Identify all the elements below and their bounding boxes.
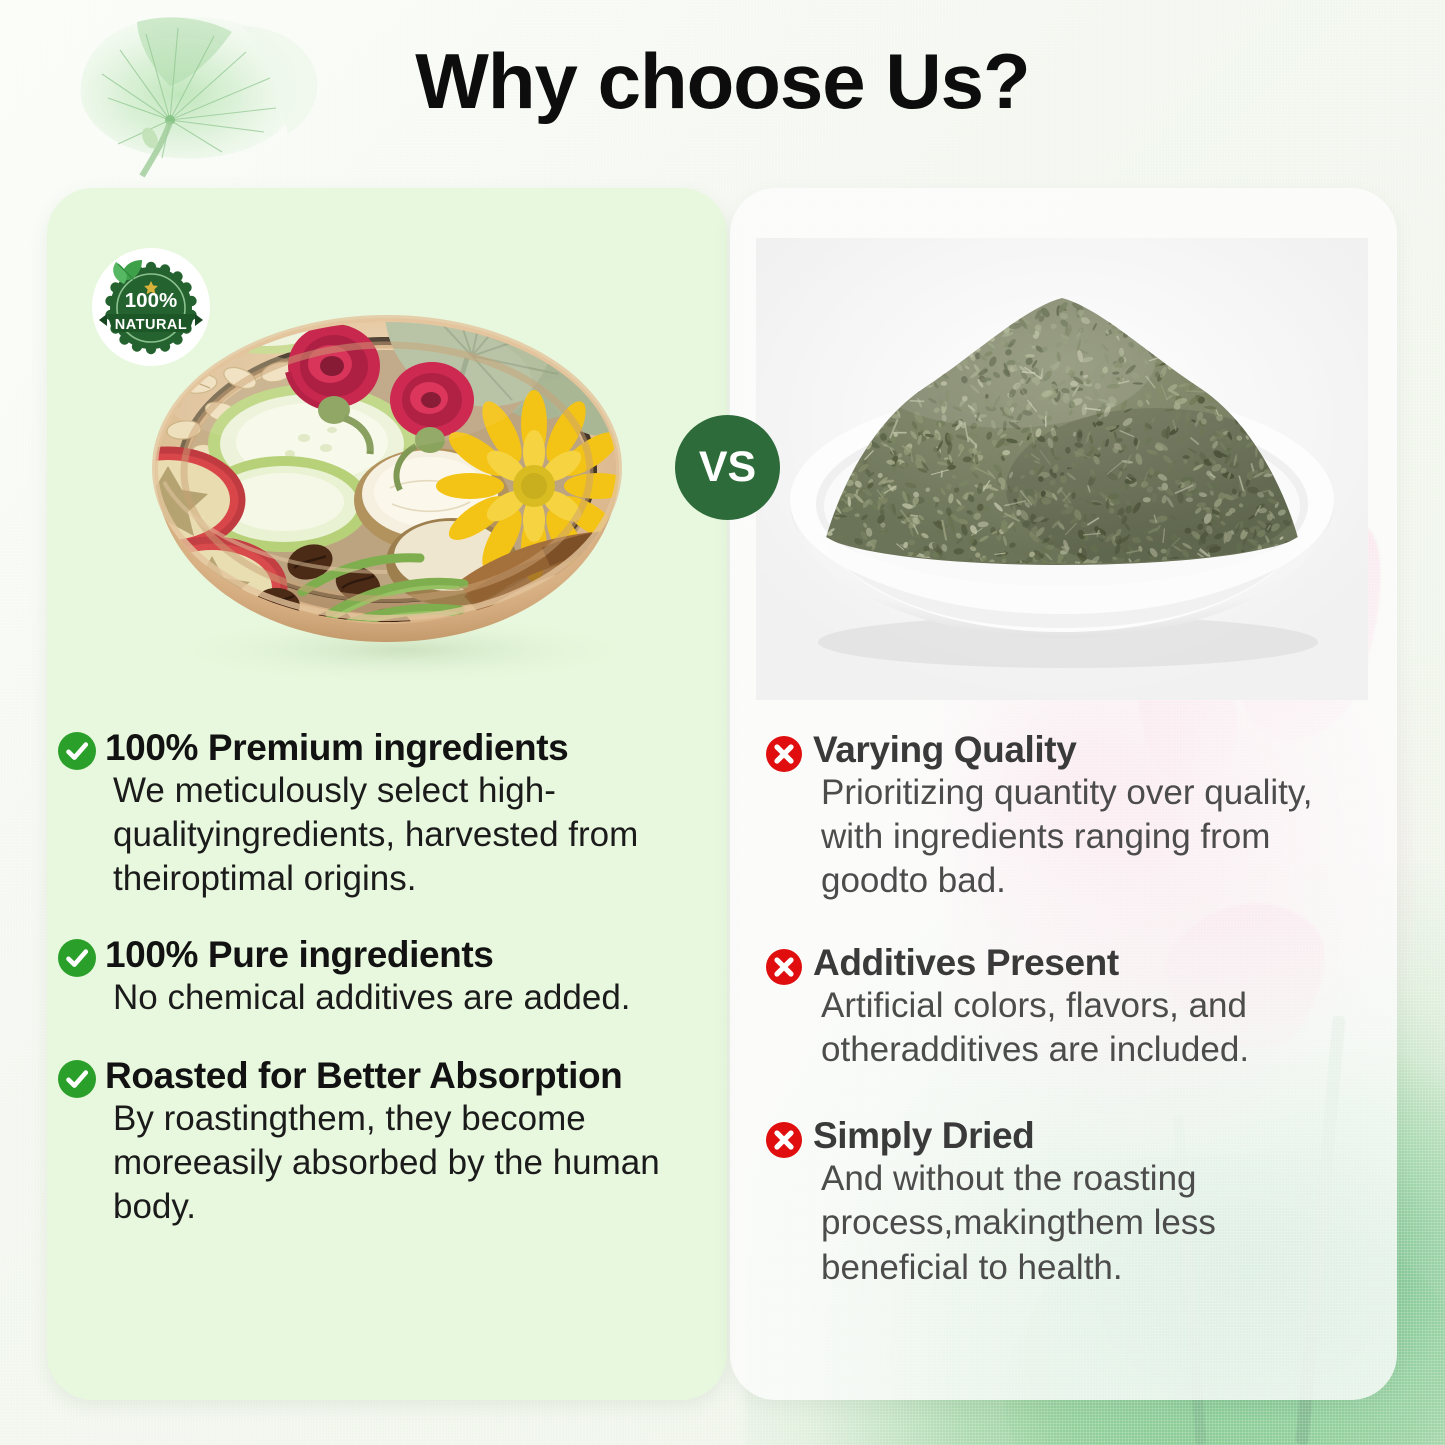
list-item-heading: 100% Premium ingredients (105, 728, 723, 768)
check-circle-icon (58, 1060, 96, 1098)
list-item: Simply Dried And without the roasting pr… (766, 1116, 1366, 1289)
page-title: Why choose Us? (0, 42, 1445, 120)
list-item: 100% Pure ingredients No chemical additi… (58, 935, 723, 1020)
natural-badge-icon: 100% NATURAL (92, 248, 210, 366)
seal-percent-label: 100% (125, 289, 177, 312)
bad-feature-list: Varying Quality Prioritizing quantity ov… (766, 730, 1366, 1320)
list-item: 100% Premium ingredients We meticulously… (58, 728, 723, 901)
seal-natural-label: NATURAL (115, 317, 188, 333)
list-item-heading: Roasted for Better Absorption (105, 1056, 723, 1096)
list-item-body: Prioritizing quantity over quality, with… (821, 771, 1366, 903)
list-item: Roasted for Better Absorption By roastin… (58, 1056, 723, 1229)
vs-badge: VS (675, 415, 780, 520)
list-item-body: By roastingthem, they become moreeasily … (113, 1097, 723, 1229)
list-item: Varying Quality Prioritizing quantity ov… (766, 730, 1366, 903)
list-item-heading: Simply Dried (813, 1116, 1366, 1156)
list-item-body: Artificial colors, flavors, and otheradd… (821, 984, 1366, 1072)
list-item-body: And without the roasting process,makingt… (821, 1157, 1366, 1289)
good-feature-list: 100% Premium ingredients We meticulously… (58, 728, 723, 1260)
cross-circle-icon (766, 736, 802, 772)
list-item-heading: 100% Pure ingredients (105, 935, 723, 975)
check-circle-icon (58, 732, 96, 770)
list-item-body: We meticulously select high-qualityingre… (113, 769, 723, 901)
dried-herbs-dish-photo (756, 238, 1368, 700)
check-circle-icon (58, 939, 96, 977)
cross-circle-icon (766, 1122, 802, 1158)
cross-circle-icon (766, 949, 802, 985)
list-item-body: No chemical additives are added. (113, 976, 723, 1020)
list-item-heading: Additives Present (813, 943, 1366, 983)
list-item: Additives Present Artificial colors, fla… (766, 943, 1366, 1072)
list-item-heading: Varying Quality (813, 730, 1366, 770)
